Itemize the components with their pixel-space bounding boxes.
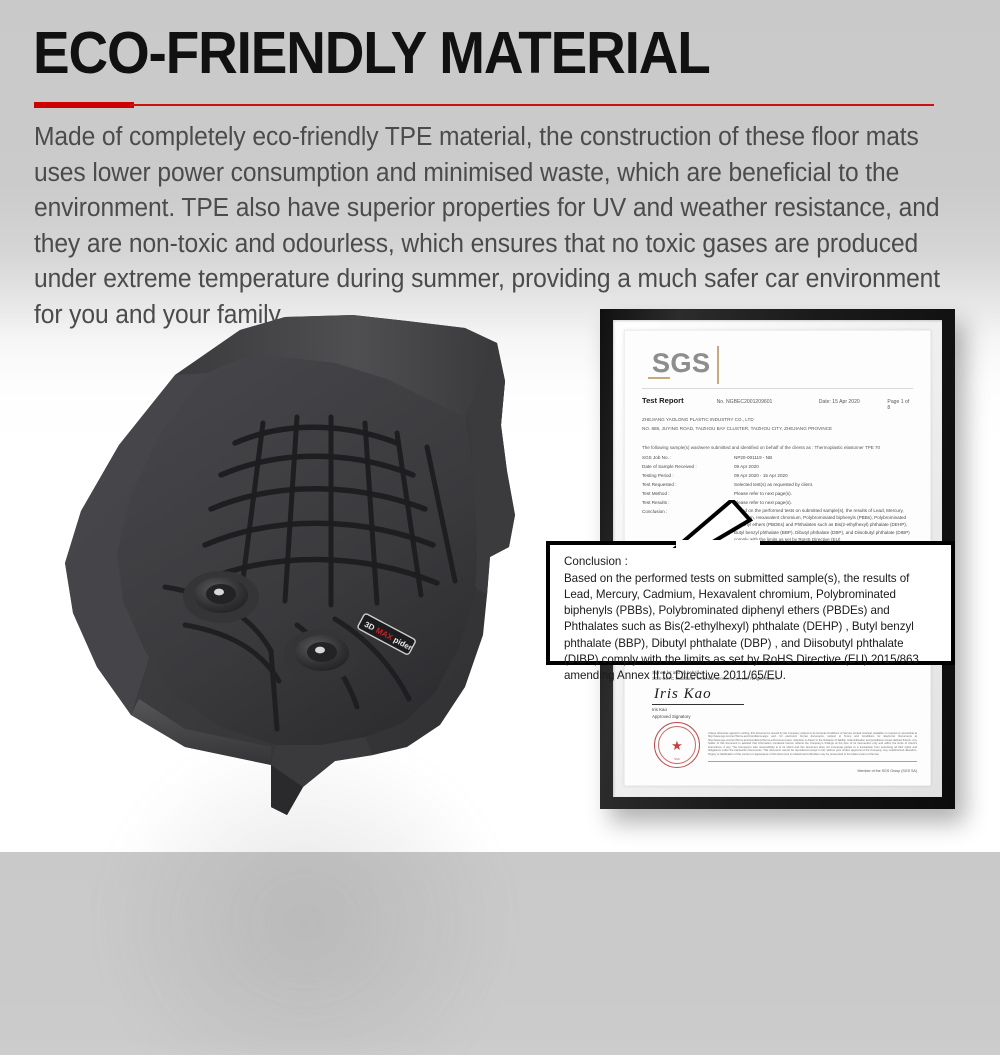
sample-intro: The following sample(s) was/were submitt…: [642, 444, 913, 451]
field-key: Testing Period :: [642, 471, 734, 480]
retention-post-lower: [284, 629, 360, 681]
group-footer: Member of the SGS Group (SGS SA): [857, 769, 917, 773]
handwritten-signature: Iris Kao: [654, 686, 862, 703]
callout-pointer: [672, 500, 762, 548]
conclusion-callout: Conclusion : Based on the performed test…: [546, 541, 955, 665]
certificate-header-row: Test Report No. NGBEC2001209601 Date: 15…: [642, 396, 913, 411]
certificate-field-row: SGS Job No. : NP20-001119 - NB: [642, 453, 913, 462]
callout-title: Conclusion :: [564, 554, 939, 571]
field-value: Selected test(s) as requested by client.: [734, 480, 913, 489]
field-key: SGS Job No. :: [642, 453, 734, 462]
field-value: Please refer to next page(s).: [734, 489, 913, 498]
certificate-field-row: Test Requested : Selected test(s) as req…: [642, 480, 913, 489]
official-stamp-icon: ★ SGS: [654, 722, 700, 768]
sgs-logo-text: SGS: [652, 348, 711, 378]
page-title: ECO-FRIENDLY MATERIAL: [33, 22, 898, 84]
floor-mat-illustration: 3D MAX pider: [35, 295, 580, 840]
report-number: No. NGBEC2001209601: [717, 399, 819, 405]
accent-rule: [34, 100, 934, 110]
field-key: Test Requested :: [642, 480, 734, 489]
footer-rule: [708, 761, 917, 762]
signature-line: [652, 704, 744, 705]
callout-body: Based on the performed tests on submitte…: [564, 571, 939, 685]
sgs-logo: SGS: [652, 348, 917, 382]
accent-rule-thick: [34, 102, 134, 108]
star-icon: ★: [671, 739, 683, 752]
field-value: 09 Apr 2020: [734, 462, 913, 471]
report-title: Test Report: [642, 396, 717, 405]
product-image-floor-mat: 3D MAX pider: [35, 295, 580, 840]
field-key: Date of Sample Received :: [642, 462, 734, 471]
field-value: NP20-001119 - NB: [734, 453, 913, 462]
client-company: ZHEJIANG YAOLONG PLASTIC INDUSTRY CO., L…: [642, 416, 913, 423]
certificate-field-row: Date of Sample Received : 09 Apr 2020: [642, 462, 913, 471]
certificate-divider: [642, 388, 913, 389]
report-date: Date: 15 Apr 2020: [819, 399, 888, 405]
field-value: 09 Apr 2020 - 15 Apr 2020: [734, 471, 913, 480]
client-address: NO. 888, JUYING ROAD, TAIZHOU BAY CLUSTE…: [642, 425, 913, 432]
certificate-field-row: Test Method : Please refer to next page(…: [642, 489, 913, 498]
sgs-logo-rule-horizontal: [648, 377, 670, 379]
stamp-label: SGS: [674, 758, 679, 761]
sgs-logo-rule-vertical: [717, 346, 719, 384]
certificate-field-row: Testing Period : 09 Apr 2020 - 15 Apr 20…: [642, 471, 913, 480]
terms-fineprint: Unless otherwise agreed in writing, this…: [708, 732, 917, 757]
retention-post-upper: [183, 571, 259, 623]
report-page: Page 1 of 8: [887, 399, 913, 411]
signer-role: Approved Signatory: [652, 714, 862, 720]
field-key: Test Method :: [642, 489, 734, 498]
accent-rule-thin: [130, 104, 934, 106]
